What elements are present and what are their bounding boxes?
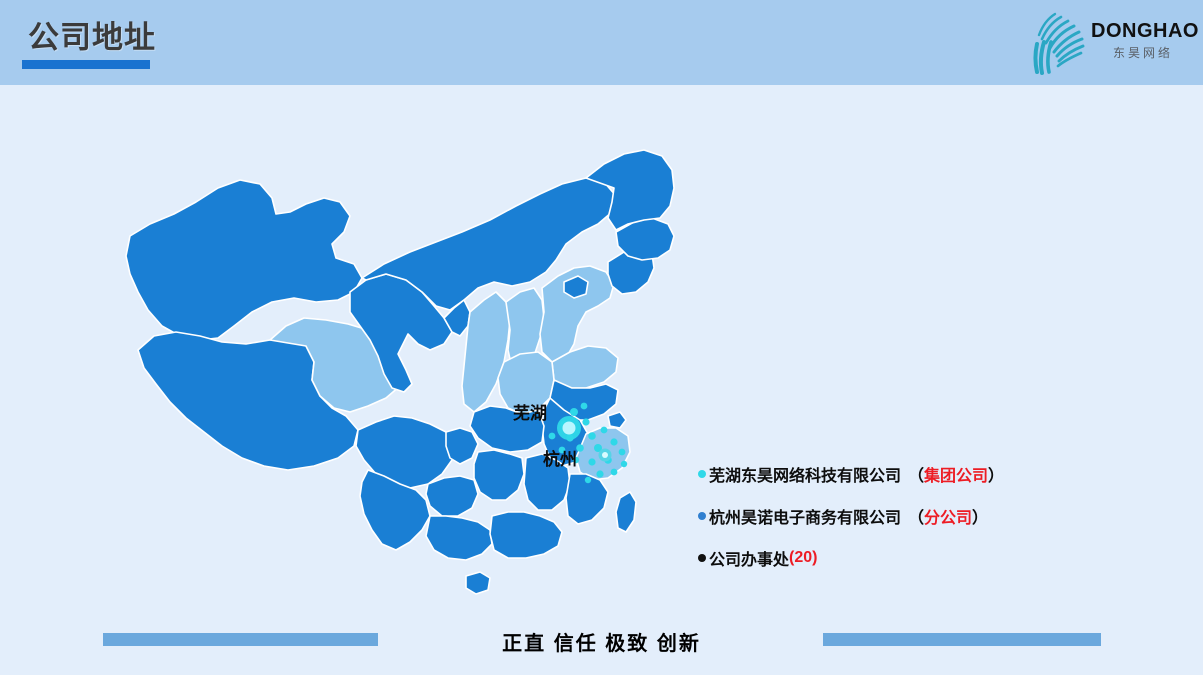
legend-company-name: 芜湖东昊网络科技有限公司: [709, 462, 901, 486]
province-hunan: [474, 450, 524, 500]
wing-feather-icon: [1025, 8, 1093, 78]
hq-ring-marker: [557, 416, 581, 440]
municipality-chongqing: [446, 428, 478, 464]
province-xinjiang: [126, 180, 362, 340]
legend: 芜湖东昊网络科技有限公司 （ 集团公司 ） 杭州昊诺电子商务有限公司 （ 分公司…: [698, 460, 1098, 572]
legend-marker-black-icon: [698, 554, 706, 562]
header-band: 公司地址: [0, 0, 1203, 85]
legend-marker-cyan-icon: [698, 470, 706, 478]
province-hainan: [466, 572, 490, 594]
title-underline: [22, 60, 150, 69]
legend-company-tag: 集团公司: [924, 462, 988, 486]
legend-company-name: 公司办事处: [709, 546, 789, 570]
province-guangdong: [490, 512, 562, 558]
legend-company-tag: 分公司: [924, 504, 972, 528]
branch-marker: [599, 449, 612, 462]
map-label-hangzhou: 杭州: [543, 445, 577, 470]
brand-name-en: DONGHAO: [1091, 20, 1195, 42]
legend-paren-close: ）: [972, 504, 988, 528]
footer-bar-right: [823, 633, 1101, 646]
legend-paren-open: （: [908, 504, 924, 528]
province-guangxi: [426, 516, 492, 560]
china-map[interactable]: 芜湖 杭州: [100, 140, 680, 610]
legend-paren-open: （: [908, 462, 924, 486]
province-guizhou: [426, 476, 478, 516]
legend-item-offices[interactable]: 公司办事处 (20): [698, 544, 1098, 572]
legend-company-name: 杭州昊诺电子商务有限公司: [709, 504, 901, 528]
legend-item-group-company[interactable]: 芜湖东昊网络科技有限公司 （ 集团公司 ）: [698, 460, 1098, 488]
legend-marker-blue-icon: [698, 512, 706, 520]
municipality-shanghai: [608, 412, 626, 428]
slide-canvas: 公司地址: [0, 0, 1203, 675]
brand-name-cn: 东昊网络: [1091, 44, 1195, 62]
brand-logo: DONGHAO 东昊网络: [1019, 6, 1195, 80]
map-label-wuhu: 芜湖: [513, 399, 547, 424]
page-title: 公司地址: [28, 18, 156, 58]
legend-paren-close: ）: [988, 462, 1004, 486]
legend-office-count: (20): [789, 549, 817, 567]
legend-item-branch-company[interactable]: 杭州昊诺电子商务有限公司 （ 分公司 ）: [698, 502, 1098, 530]
province-taiwan: [616, 492, 636, 532]
brand-logo-text: DONGHAO 东昊网络: [1091, 20, 1195, 62]
